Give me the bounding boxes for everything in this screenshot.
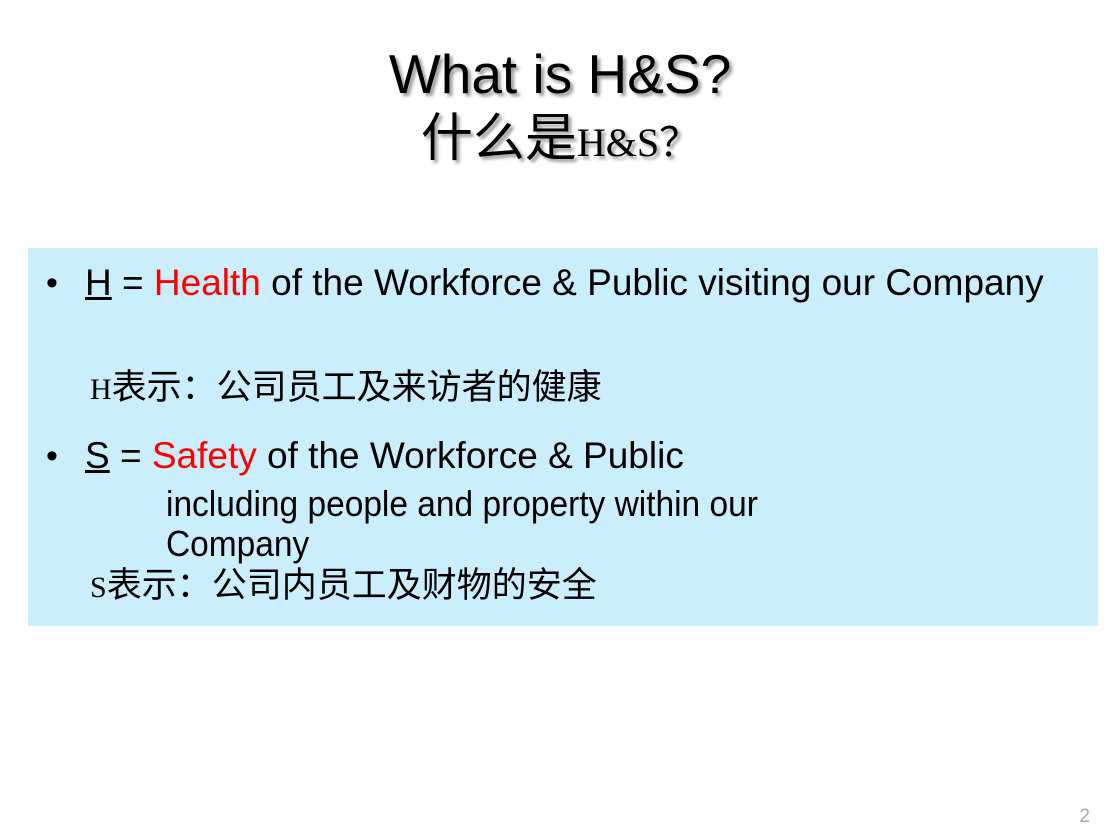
bullet-marker-icon: •: [46, 431, 58, 481]
title-english: What is H&S?: [0, 42, 1120, 106]
bullet-text-safety: S = Safety of the Workforce & Public: [85, 431, 1085, 481]
title-chinese-latin: H&S？: [577, 120, 699, 165]
content-box: • H = Health of the Workforce & Public v…: [28, 248, 1098, 626]
bullet-item-safety: • S = Safety of the Workforce & Public: [28, 431, 1098, 481]
page-number: 2: [1079, 806, 1090, 828]
title-chinese-han: 什么是: [421, 109, 577, 169]
continuation-line-2: Company: [166, 524, 1031, 564]
chinese-text-health: 表示：公司员工及来访者的健康: [112, 368, 602, 408]
rest-text-health: of the Workforce & Public visiting our C…: [261, 262, 1044, 303]
title-chinese: 什么是H&S？: [0, 106, 1120, 185]
slide: What is H&S? 什么是H&S？ • H = Health of the…: [0, 0, 1120, 840]
key-letter-s: S: [85, 435, 110, 476]
key-letter-h: H: [85, 262, 112, 303]
chinese-subtitle-health: H表示：公司员工及来访者的健康: [90, 366, 602, 412]
chinese-latin-s: S: [90, 571, 107, 604]
chinese-latin-h: H: [90, 373, 112, 406]
chinese-subtitle-safety: S表示：公司内员工及财物的安全: [90, 564, 597, 610]
chinese-text-safety: 表示：公司内员工及财物的安全: [107, 566, 597, 606]
highlight-health: Health: [154, 262, 261, 303]
slide-title: What is H&S? 什么是H&S？: [0, 42, 1120, 185]
highlight-safety: Safety: [152, 435, 257, 476]
equals-sign-h: =: [112, 262, 154, 303]
bullet-text-health: H = Health of the Workforce & Public vis…: [85, 258, 1085, 308]
bullet-marker-icon: •: [46, 258, 58, 308]
continuation-line-1: including people and property within our: [166, 484, 1031, 524]
equals-sign-s: =: [110, 435, 152, 476]
continuation-text-safety: including people and property within our…: [166, 484, 1031, 564]
rest-text-safety: of the Workforce & Public: [257, 435, 684, 476]
bullet-item-health: • H = Health of the Workforce & Public v…: [28, 258, 1098, 308]
